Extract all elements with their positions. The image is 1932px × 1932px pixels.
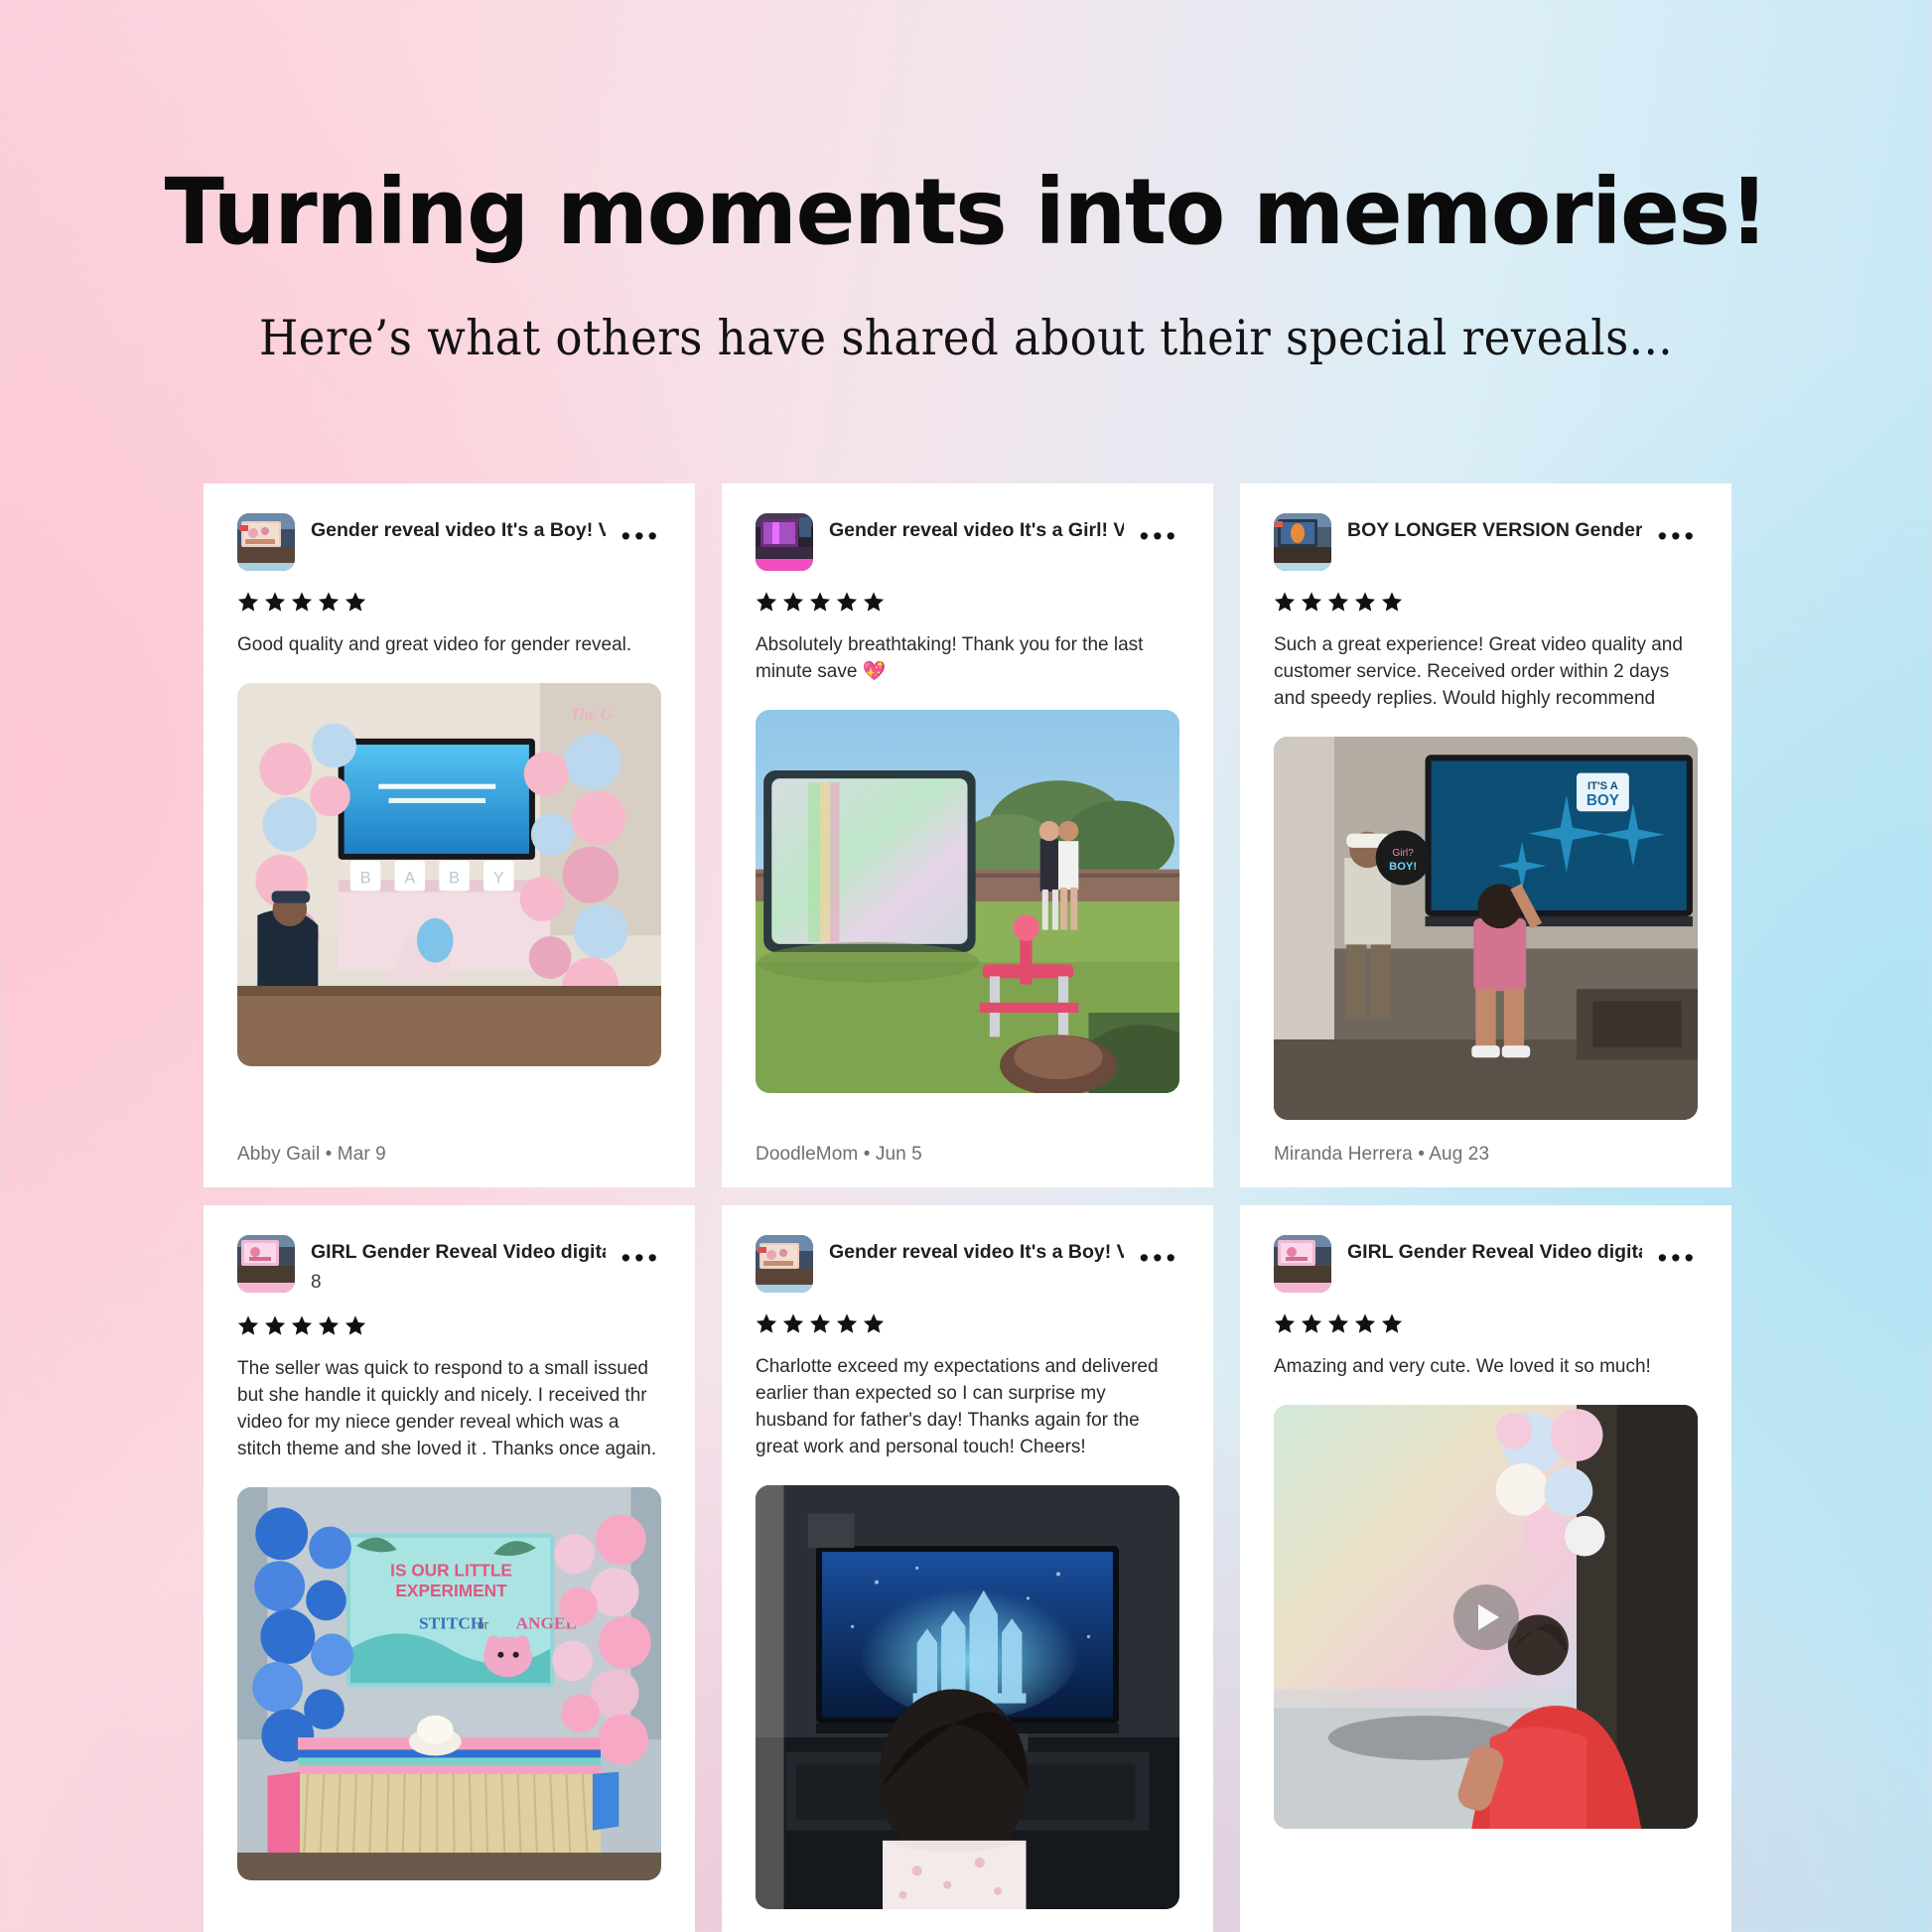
page-title: Turning moments into memories!	[39, 167, 1893, 258]
review-card[interactable]: GIRL Gender Reveal Video digital ... 8 •…	[204, 1205, 695, 1932]
product-info: Gender reveal video It's a Boy! Vide...	[311, 513, 606, 543]
product-title: BOY LONGER VERSION Gender ...	[1347, 519, 1642, 543]
star-icon	[836, 1312, 858, 1334]
star-icon	[863, 591, 885, 613]
star-icon	[345, 591, 366, 613]
star-icon	[291, 1314, 313, 1336]
review-text: Good quality and great video for gender …	[237, 632, 661, 659]
star-icon	[1381, 1312, 1403, 1334]
star-icon	[237, 1314, 259, 1336]
more-options-icon[interactable]: •••	[1140, 1235, 1179, 1272]
star-icon	[836, 591, 858, 613]
rating-stars	[1274, 1312, 1698, 1334]
heart-icon: 💖	[863, 661, 887, 682]
star-icon	[1301, 1312, 1322, 1334]
review-text: Absolutely breathtaking! Thank you for t…	[756, 632, 1179, 686]
product-info: Gender reveal video It's a Boy! Vide...	[829, 1235, 1124, 1265]
review-card-header: GIRL Gender Reveal Video digital ... •••	[1274, 1235, 1698, 1293]
star-icon	[264, 591, 286, 613]
product-info: GIRL Gender Reveal Video digital ... 8	[311, 1235, 606, 1295]
product-title: Gender reveal video It's a Girl! Vide...	[829, 519, 1124, 543]
star-icon	[756, 591, 777, 613]
svg-text:or: or	[478, 1616, 489, 1631]
review-text: Charlotte exceed my expectations and del…	[756, 1354, 1179, 1461]
svg-text:EXPERIMENT: EXPERIMENT	[395, 1580, 507, 1599]
svg-text:A: A	[404, 869, 415, 887]
review-photo[interactable]	[756, 710, 1179, 1093]
star-icon	[1381, 591, 1403, 613]
play-button-icon[interactable]	[1453, 1585, 1519, 1650]
product-title: GIRL Gender Reveal Video digital ...	[311, 1241, 606, 1265]
rating-stars	[756, 591, 1179, 613]
product-subtitle: 8	[311, 1272, 606, 1295]
review-card-header: Gender reveal video It's a Boy! Vide... …	[756, 1235, 1179, 1293]
review-byline: Miranda Herrera • Aug 23	[1274, 1144, 1698, 1166]
review-card-header: Gender reveal video It's a Girl! Vide...…	[756, 513, 1179, 571]
product-thumbnail[interactable]	[756, 1235, 813, 1293]
product-thumbnail[interactable]	[756, 513, 813, 571]
star-icon	[1274, 1312, 1296, 1334]
review-card[interactable]: BOY LONGER VERSION Gender ... ••• Such a…	[1240, 483, 1731, 1187]
review-photo[interactable]: IT'S A BOY Girl? BOY!	[1274, 737, 1698, 1120]
svg-text:BOY: BOY	[1587, 792, 1619, 809]
star-icon	[345, 1314, 366, 1336]
star-icon	[756, 1312, 777, 1334]
page-subtitle: Here’s what others have shared about the…	[77, 314, 1855, 362]
review-photo[interactable]: IS OUR LITTLE EXPERIMENT STITCH or ANGEL	[237, 1487, 661, 1881]
rating-stars	[237, 591, 661, 613]
review-byline: Abby Gail • Mar 9	[237, 1144, 661, 1166]
star-icon	[1327, 1312, 1349, 1334]
svg-text:Girl?: Girl?	[1392, 848, 1414, 859]
review-photo[interactable]: BA BY	[237, 683, 661, 1066]
star-icon	[782, 1312, 804, 1334]
rating-stars	[756, 1312, 1179, 1334]
svg-text:The G: The G	[571, 705, 614, 724]
product-info: BOY LONGER VERSION Gender ...	[1347, 513, 1642, 543]
product-info: Gender reveal video It's a Girl! Vide...	[829, 513, 1124, 543]
product-title: Gender reveal video It's a Boy! Vide...	[829, 1241, 1124, 1265]
review-text-body: Absolutely breathtaking! Thank you for t…	[756, 634, 1143, 682]
svg-text:Y: Y	[493, 869, 504, 887]
star-icon	[809, 1312, 831, 1334]
review-card[interactable]: Gender reveal video It's a Girl! Vide...…	[722, 483, 1213, 1187]
rating-stars	[1274, 591, 1698, 613]
star-icon	[1274, 591, 1296, 613]
star-icon	[809, 591, 831, 613]
reviews-grid: Gender reveal video It's a Boy! Vide... …	[204, 483, 1732, 1932]
product-thumbnail[interactable]	[237, 1235, 295, 1293]
star-icon	[318, 1314, 340, 1336]
star-icon	[291, 591, 313, 613]
review-card[interactable]: Gender reveal video It's a Boy! Vide... …	[722, 1205, 1213, 1932]
review-text: Amazing and very cute. We loved it so mu…	[1274, 1354, 1698, 1381]
more-options-icon[interactable]: •••	[621, 513, 661, 550]
star-icon	[1327, 591, 1349, 613]
svg-text:IS OUR LITTLE: IS OUR LITTLE	[390, 1560, 512, 1580]
star-icon	[863, 1312, 885, 1334]
star-icon	[782, 591, 804, 613]
svg-text:B: B	[449, 869, 460, 887]
review-card[interactable]: GIRL Gender Reveal Video digital ... •••…	[1240, 1205, 1731, 1932]
star-icon	[318, 591, 340, 613]
review-card[interactable]: Gender reveal video It's a Boy! Vide... …	[204, 483, 695, 1187]
product-thumbnail[interactable]	[237, 513, 295, 571]
svg-text:BOY!: BOY!	[1389, 861, 1417, 873]
more-options-icon[interactable]: •••	[621, 1235, 661, 1272]
svg-text:B: B	[360, 869, 371, 887]
review-card-header: GIRL Gender Reveal Video digital ... 8 •…	[237, 1235, 661, 1295]
star-icon	[1354, 591, 1376, 613]
product-info: GIRL Gender Reveal Video digital ...	[1347, 1235, 1642, 1265]
review-card-header: Gender reveal video It's a Boy! Vide... …	[237, 513, 661, 571]
svg-text:STITCH: STITCH	[419, 1613, 484, 1632]
review-card-header: BOY LONGER VERSION Gender ... •••	[1274, 513, 1698, 571]
more-options-icon[interactable]: •••	[1658, 513, 1698, 550]
more-options-icon[interactable]: •••	[1140, 513, 1179, 550]
product-title: Gender reveal video It's a Boy! Vide...	[311, 519, 606, 543]
review-text: Such a great experience! Great video qua…	[1274, 632, 1698, 713]
heading-block: Turning moments into memories! Here’s wh…	[0, 167, 1932, 362]
more-options-icon[interactable]: •••	[1658, 1235, 1698, 1272]
review-photo[interactable]	[756, 1485, 1179, 1909]
product-thumbnail[interactable]	[1274, 513, 1331, 571]
svg-text:IT'S A: IT'S A	[1587, 780, 1618, 792]
star-icon	[1354, 1312, 1376, 1334]
review-video[interactable]	[1274, 1405, 1698, 1829]
rating-stars	[237, 1314, 661, 1336]
star-icon	[1301, 591, 1322, 613]
poster-page: Turning moments into memories! Here’s wh…	[0, 0, 1932, 1932]
review-text: The seller was quick to respond to a sma…	[237, 1356, 661, 1463]
product-thumbnail[interactable]	[1274, 1235, 1331, 1293]
star-icon	[237, 591, 259, 613]
star-icon	[264, 1314, 286, 1336]
product-title: GIRL Gender Reveal Video digital ...	[1347, 1241, 1642, 1265]
review-byline: DoodleMom • Jun 5	[756, 1144, 1179, 1166]
